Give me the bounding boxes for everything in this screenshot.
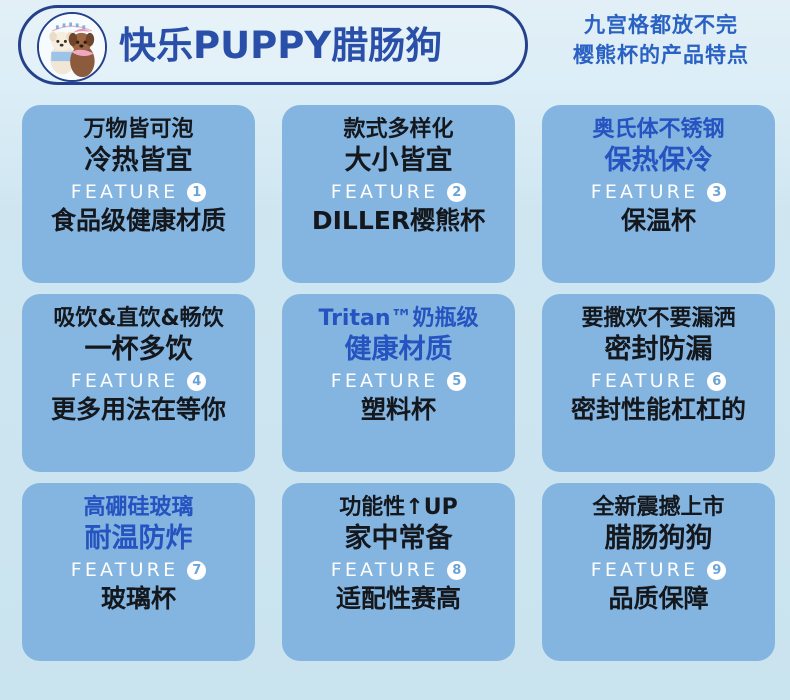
feature-badge: FEATURE 1 [30,183,247,202]
feature-label: FEATURE [331,561,439,580]
feature-card-1[interactable]: 万物皆可泡 冷热皆宜 FEATURE 1 食品级健康材质 [22,105,255,283]
card-headline: Tritan™奶瓶级 [290,307,507,332]
card-headline: 吸饮&直饮&畅饮 [30,307,247,332]
card-caption: 更多用法在等你 [30,396,247,424]
feature-label: FEATURE [71,561,179,580]
page-title: 快乐PUPPY腊肠狗 [119,27,442,64]
feature-number-badge: 1 [187,183,206,202]
card-subheadline: 家中常备 [290,524,507,554]
card-headline: 功能性↑UP [290,496,507,521]
feature-number-badge: 8 [447,561,466,580]
card-headline: 万物皆可泡 [30,118,247,143]
feature-badge: FEATURE 8 [290,561,507,580]
feature-badge: FEATURE 5 [290,372,507,391]
two-dogs-logo-icon [37,12,107,82]
feature-card-7[interactable]: 高硼硅玻璃 耐温防炸 FEATURE 7 玻璃杯 [22,483,255,661]
feature-number-badge: 4 [187,372,206,391]
feature-label: FEATURE [331,372,439,391]
card-caption: 密封性能杠杠的 [550,396,767,424]
card-caption: 品质保障 [550,585,767,613]
feature-label: FEATURE [71,183,179,202]
feature-number-badge: 3 [707,183,726,202]
feature-badge: FEATURE 4 [30,372,247,391]
feature-label: FEATURE [591,561,699,580]
card-subheadline: 耐温防炸 [30,524,247,554]
brand-title-pill: 快乐PUPPY腊肠狗 [18,5,528,85]
header-subtitle: 九宫格都放不完 樱熊杯的产品特点 [546,11,776,71]
feature-card-4[interactable]: 吸饮&直饮&畅饮 一杯多饮 FEATURE 4 更多用法在等你 [22,294,255,472]
card-subheadline: 健康材质 [290,335,507,365]
card-headline: 高硼硅玻璃 [30,496,247,521]
card-caption: 塑料杯 [290,396,507,424]
card-caption: 保温杯 [550,207,767,235]
card-headline: 奥氏体不锈钢 [550,118,767,143]
feature-number-badge: 7 [187,561,206,580]
feature-label: FEATURE [71,372,179,391]
card-subheadline: 腊肠狗狗 [550,524,767,554]
card-caption: 适配性赛高 [290,585,507,613]
feature-label: FEATURE [591,183,699,202]
feature-badge: FEATURE 9 [550,561,767,580]
feature-number-badge: 5 [447,372,466,391]
card-headline: 要撒欢不要漏洒 [550,307,767,332]
feature-card-9[interactable]: 全新震撼上市 腊肠狗狗 FEATURE 9 品质保障 [542,483,775,661]
card-caption: 食品级健康材质 [30,207,247,235]
card-headline: 款式多样化 [290,118,507,143]
feature-grid: 万物皆可泡 冷热皆宜 FEATURE 1 食品级健康材质 款式多样化 大小皆宜 … [22,105,776,661]
header-subtitle-line2: 樱熊杯的产品特点 [546,41,776,71]
feature-card-5[interactable]: Tritan™奶瓶级 健康材质 FEATURE 5 塑料杯 [282,294,515,472]
feature-number-badge: 2 [447,183,466,202]
feature-label: FEATURE [591,372,699,391]
feature-card-2[interactable]: 款式多样化 大小皆宜 FEATURE 2 DILLER樱熊杯 [282,105,515,283]
card-subheadline: 冷热皆宜 [30,146,247,176]
card-subheadline: 一杯多饮 [30,335,247,365]
feature-card-3[interactable]: 奥氏体不锈钢 保热保冷 FEATURE 3 保温杯 [542,105,775,283]
feature-number-badge: 9 [707,561,726,580]
header-subtitle-line1: 九宫格都放不完 [546,11,776,41]
feature-badge: FEATURE 6 [550,372,767,391]
card-caption: 玻璃杯 [30,585,247,613]
feature-badge: FEATURE 3 [550,183,767,202]
feature-card-6[interactable]: 要撒欢不要漏洒 密封防漏 FEATURE 6 密封性能杠杠的 [542,294,775,472]
card-subheadline: 大小皆宜 [290,146,507,176]
feature-card-8[interactable]: 功能性↑UP 家中常备 FEATURE 8 适配性赛高 [282,483,515,661]
card-headline: 全新震撼上市 [550,496,767,521]
card-caption: DILLER樱熊杯 [290,207,507,235]
feature-badge: FEATURE 7 [30,561,247,580]
card-subheadline: 保热保冷 [550,146,767,176]
card-subheadline: 密封防漏 [550,335,767,365]
page-header: 快乐PUPPY腊肠狗 九宫格都放不完 樱熊杯的产品特点 [0,0,790,92]
feature-badge: FEATURE 2 [290,183,507,202]
feature-number-badge: 6 [707,372,726,391]
feature-label: FEATURE [331,183,439,202]
